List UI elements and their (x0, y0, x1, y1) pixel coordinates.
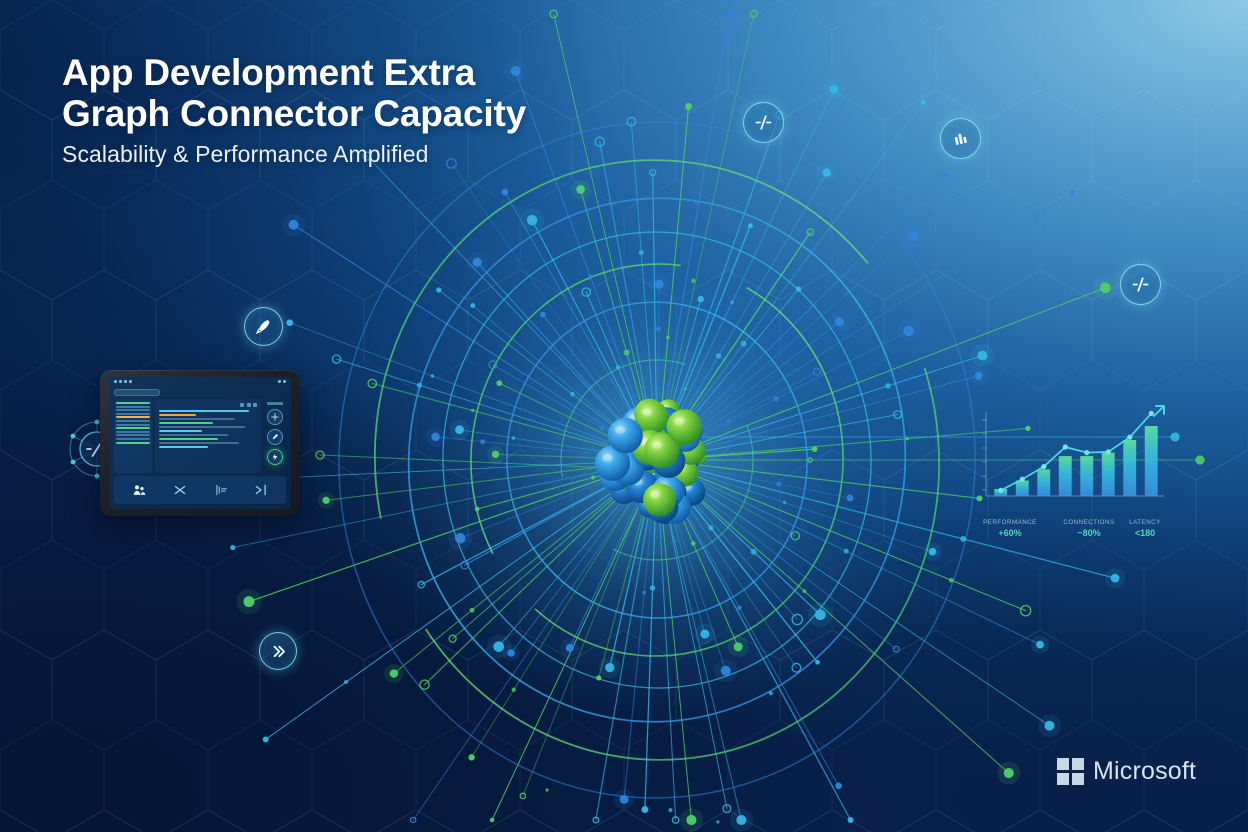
code-slash-icon (753, 112, 774, 133)
connector-icon[interactable] (132, 483, 147, 498)
logo-tile-3 (1057, 773, 1069, 785)
sidebar-item[interactable] (116, 406, 150, 408)
microsoft-wordmark: Microsoft (1093, 757, 1196, 786)
gear-icon (271, 413, 279, 421)
sidebar-item[interactable] (116, 442, 150, 444)
code-line (159, 446, 208, 448)
annotation-value: +60% (964, 528, 1056, 538)
chart-point (1041, 464, 1046, 469)
code-line (159, 410, 249, 412)
tablet-code-editor[interactable] (155, 399, 261, 473)
annotation-label: LATENCY (1116, 519, 1174, 526)
chart-bar (1123, 440, 1136, 496)
chart-bar (1102, 453, 1115, 496)
page-title: App Development Extra Graph Connector Ca… (62, 52, 682, 134)
analytics-badge[interactable] (940, 118, 981, 159)
chart-point (1020, 477, 1025, 482)
shuffle-icon[interactable] (173, 483, 187, 497)
sidebar-item[interactable] (116, 402, 150, 404)
logo-tile-1 (1057, 758, 1069, 770)
chevrons-badge[interactable] (259, 632, 297, 670)
chart-annotations: PERFORMANCE +60% CONNECTIONS ~80% LATENC… (958, 504, 1176, 540)
chart-bar (1016, 481, 1029, 496)
chevrons-right-icon (269, 642, 288, 661)
editor-window-controls[interactable] (159, 403, 257, 407)
logo-tile-4 (1072, 773, 1084, 785)
tablet-screen[interactable] (109, 377, 291, 509)
chart-bar (1059, 456, 1072, 496)
rocket-badge[interactable] (244, 307, 283, 346)
annotation-label: PERFORMANCE (964, 519, 1056, 526)
chart-point (1106, 449, 1111, 454)
logo-tile-2 (1072, 758, 1084, 770)
chart-bar (1037, 469, 1050, 496)
search-input[interactable] (114, 389, 160, 396)
graph-icon[interactable] (214, 483, 228, 497)
code-line (159, 426, 245, 428)
code-slash-icon (1130, 274, 1151, 295)
code-line (159, 438, 218, 440)
chart-bars (994, 426, 1157, 496)
sidebar-item[interactable] (116, 416, 150, 418)
code-slash-badge-top[interactable] (743, 102, 784, 143)
rail-label (267, 402, 283, 405)
tablet-file-sidebar[interactable] (114, 399, 152, 473)
chart-annotation: PERFORMANCE +60% (964, 519, 1056, 538)
chart-bar (1145, 426, 1158, 496)
sidebar-item[interactable] (116, 434, 150, 436)
code-line (159, 430, 202, 432)
code-slash-badge-right[interactable] (1120, 264, 1161, 305)
code-line (159, 442, 239, 444)
sidebar-item[interactable] (116, 409, 150, 411)
tablet-device[interactable] (100, 370, 300, 516)
run-button[interactable] (267, 449, 283, 465)
chart-point (1063, 444, 1068, 449)
page-subtitle: Scalability & Performance Amplified (62, 141, 682, 168)
settings-button[interactable] (267, 409, 283, 425)
tablet-status-bar (109, 377, 291, 386)
annotation-value: <180 (1116, 528, 1174, 538)
chart-point (998, 488, 1003, 493)
chart-point (1149, 411, 1154, 416)
chart-point (1084, 450, 1089, 455)
code-line (159, 418, 235, 420)
sidebar-item[interactable] (116, 424, 150, 426)
poster-canvas: (function(){ var CX=657, CY=460; var spo… (0, 0, 1248, 832)
status-left-indicators (114, 380, 132, 383)
edit-button[interactable] (267, 429, 283, 445)
tablet-search-row (114, 388, 286, 396)
chart-annotation: LATENCY <180 (1116, 519, 1174, 538)
title-line-2: Graph Connector Capacity (62, 93, 526, 134)
microsoft-logo-mark (1057, 758, 1084, 785)
chart-arrow-icon (1154, 406, 1164, 416)
title-line-1: App Development Extra (62, 52, 475, 93)
chart-bar (1080, 456, 1093, 496)
sidebar-item[interactable] (116, 438, 150, 440)
code-line (159, 422, 213, 424)
sidebar-item[interactable] (116, 427, 150, 429)
sidebar-item[interactable] (116, 420, 150, 422)
sidebar-item[interactable] (116, 431, 150, 433)
merge-icon[interactable] (254, 483, 268, 497)
status-right-indicators (278, 380, 286, 383)
performance-chart: PERFORMANCE +60% CONNECTIONS ~80% LATENC… (958, 368, 1176, 540)
tablet-toolbar[interactable] (114, 476, 286, 504)
code-line (159, 414, 196, 416)
headline-block: App Development Extra Graph Connector Ca… (62, 52, 682, 168)
pencil-icon (271, 433, 279, 441)
sidebar-item[interactable] (116, 413, 150, 415)
rocket-icon (254, 317, 273, 336)
chart-point (1127, 435, 1132, 440)
microsoft-logo: Microsoft (1057, 757, 1196, 786)
code-line (159, 434, 228, 436)
power-icon (271, 453, 279, 461)
tablet-action-rail[interactable] (264, 399, 286, 473)
bar-chart-icon (951, 129, 970, 148)
